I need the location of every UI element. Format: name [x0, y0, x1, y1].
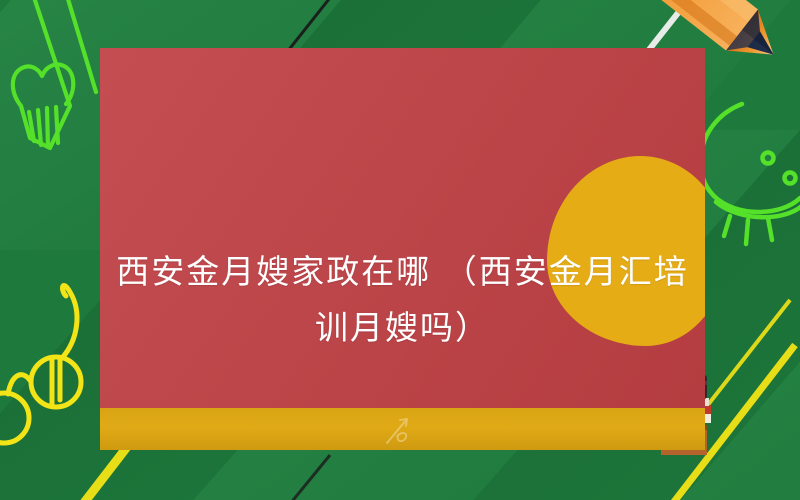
gold-flourish-watermark-icon	[383, 412, 423, 446]
poster-canvas: 西安金月嫂家政在哪 （西安金月汇培训月嫂吗）	[0, 0, 800, 500]
gold-footer-bar	[100, 408, 705, 450]
red-content-card: 西安金月嫂家政在哪 （西安金月汇培训月嫂吗）	[100, 48, 705, 450]
page-title: 西安金月嫂家政在哪 （西安金月汇培训月嫂吗）	[100, 244, 705, 356]
